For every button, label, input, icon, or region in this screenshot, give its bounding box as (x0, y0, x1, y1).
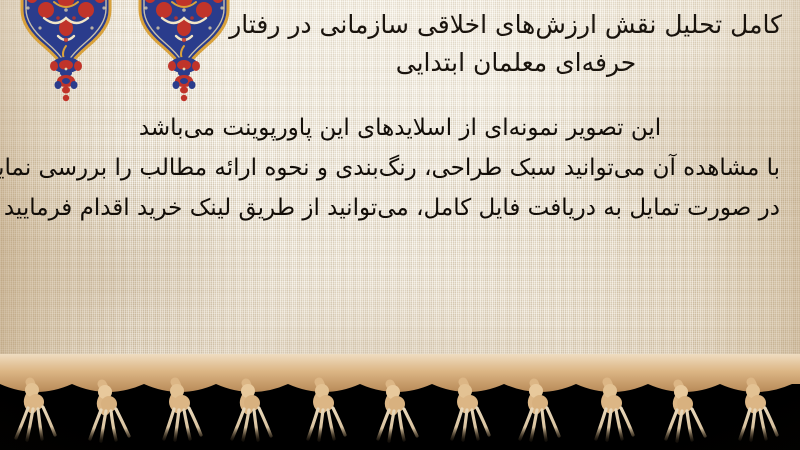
carpet-pendant-icon (46, 56, 86, 108)
slide-canvas: کامل تحلیل نقش ارزش‌های اخلاقی سازمانی د… (0, 0, 800, 450)
slide-body-line-1: این تصویر نمونه‌ای از اسلایدهای این پاور… (20, 108, 780, 148)
slide-title-line-2: حرفه‌ای معلمان ابتدایی (250, 44, 782, 82)
slide-body-text: این تصویر نمونه‌ای از اسلایدهای این پاور… (20, 108, 780, 228)
slide-title-line-1: کامل تحلیل نقش ارزش‌های اخلاقی سازمانی د… (250, 6, 782, 44)
carpet-fringe-band (0, 354, 800, 450)
slide-title: کامل تحلیل نقش ارزش‌های اخلاقی سازمانی د… (250, 6, 782, 82)
carpet-ornament-group (0, 0, 250, 115)
slide-body-line-2: با مشاهده آن می‌توانید سبک طراحی، رنگ‌بن… (20, 148, 780, 188)
carpet-pendant-icon (164, 56, 204, 108)
carpet-fringe-tassels (0, 354, 800, 450)
slide-body-line-3: در صورت تمایل به دریافت فایل کامل، می‌تو… (20, 188, 780, 228)
